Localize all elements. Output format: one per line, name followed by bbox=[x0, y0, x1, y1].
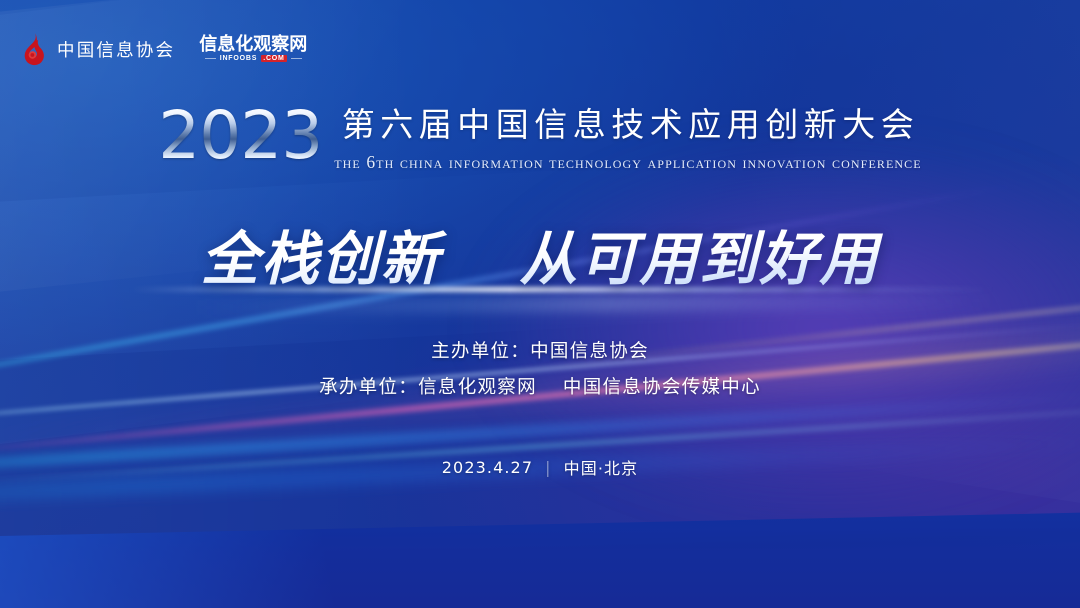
title-text-wrap: 第六届中国信息技术应用创新大会 The 6th China Informatio… bbox=[334, 104, 921, 173]
flame-logo-icon bbox=[18, 32, 48, 66]
media-partner-domain: .COM bbox=[261, 55, 286, 62]
event-date: 2023.4.27 bbox=[442, 458, 533, 477]
slogan-part-1: 全栈创新 bbox=[201, 225, 441, 293]
media-partner-name: 信息化观察网 bbox=[199, 36, 307, 55]
co-organizers: 承办单位：信息化观察网中国信息协会传媒中心 bbox=[0, 370, 1080, 406]
title-row: 2023 第六届中国信息技术应用创新大会 The 6th China Infor… bbox=[158, 104, 921, 173]
co-organizer-2: 中国信息协会传媒中心 bbox=[563, 377, 761, 398]
rule-left bbox=[205, 58, 216, 59]
media-partner-latin-row: INFOOBS .COM bbox=[205, 55, 302, 62]
poster-content: 中国信息协会 信息化观察网 INFOOBS .COM 2023 第六届中国信息技… bbox=[0, 0, 1080, 608]
association-name: 中国信息协会 bbox=[57, 37, 175, 62]
conference-title-cn: 第六届中国信息技术应用创新大会 bbox=[337, 106, 920, 145]
meta-divider: | bbox=[545, 458, 552, 477]
conference-title-en: The 6th China Information Technology App… bbox=[334, 152, 921, 173]
organizer-block: 主办单位：中国信息协会 承办单位：信息化观察网中国信息协会传媒中心 bbox=[0, 334, 1080, 406]
media-partner-logo[interactable]: 信息化观察网 INFOOBS .COM bbox=[193, 36, 307, 63]
association-logo[interactable]: 中国信息协会 bbox=[18, 32, 175, 66]
title-block: 2023 第六届中国信息技术应用创新大会 The 6th China Infor… bbox=[0, 104, 1080, 173]
slogan-part-2: 从可用到好用 bbox=[519, 225, 879, 293]
host-organizer: 主办单位：中国信息协会 bbox=[0, 334, 1080, 370]
event-meta: 2023.4.27 | 中国·北京 bbox=[0, 455, 1080, 479]
co-organizer-1: 信息化观察网 bbox=[418, 377, 537, 398]
conference-poster: 中国信息协会 信息化观察网 INFOOBS .COM 2023 第六届中国信息技… bbox=[0, 0, 1080, 608]
event-location: 中国·北京 bbox=[564, 455, 639, 479]
rule-right bbox=[291, 58, 302, 59]
logo-bar: 中国信息协会 信息化观察网 INFOOBS .COM bbox=[18, 32, 307, 66]
conference-slogan: 全栈创新 从可用到好用 bbox=[0, 212, 1080, 296]
media-partner-latin: INFOOBS bbox=[220, 55, 258, 62]
co-organizer-label: 承办单位： bbox=[319, 377, 418, 398]
year-2023: 2023 bbox=[158, 104, 334, 169]
